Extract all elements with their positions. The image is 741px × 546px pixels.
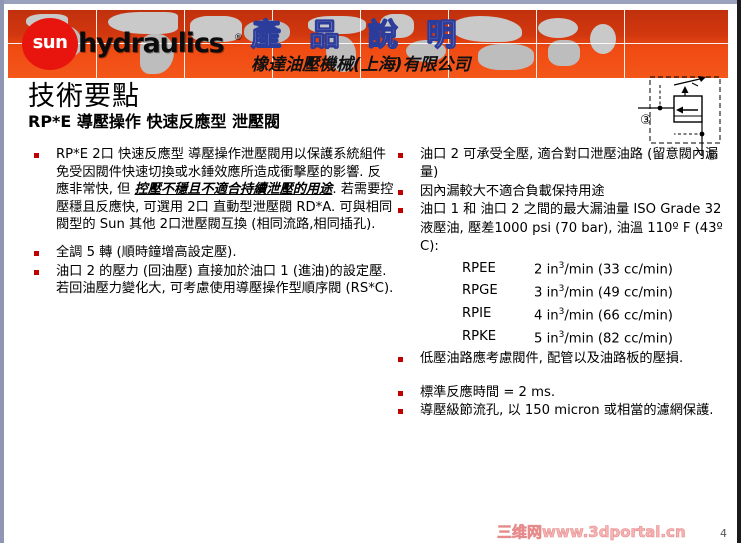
page-number: 4 <box>720 527 727 540</box>
table-row: RPEE 2 in3/min (33 cc/min) <box>462 257 673 280</box>
leak-per-unit: /min <box>564 286 593 301</box>
right-content-column: 油口 2 可承受全壓, 適合對口泄壓油路 (留意閥內漏量) 因內漏較大不適合負載… <box>388 146 736 421</box>
bullet-marker-icon <box>34 270 39 275</box>
slide-border-right <box>737 0 741 546</box>
leak-rate-1: 3 in3/min (49 cc/min) <box>534 280 673 303</box>
sun-hydraulics-logo: sun hydraulics ® <box>10 10 250 78</box>
leak-model: RPEE <box>462 257 534 280</box>
leak-metric-value: (82 cc/min) <box>598 331 673 346</box>
slide-canvas: sun hydraulics ® 產 品 說 明 橡達油壓機械(上海)有限公司 … <box>0 0 741 546</box>
table-row: RPGE 3 in3/min (49 cc/min) <box>462 280 673 303</box>
list-item: 油口 2 可承受全壓, 適合對口泄壓油路 (留意閥內漏量) <box>388 146 736 183</box>
leak-per-unit: /min <box>564 308 593 323</box>
leak-imperial-unit: in <box>547 286 559 301</box>
bullet-marker-icon <box>398 190 403 195</box>
bullet-text-1: RP*E 2口 快速反應型 導壓操作泄壓閥用以保護系統組件免受因閥件快速切換或水… <box>56 146 394 234</box>
leak-metric-value: (49 cc/min) <box>598 286 673 301</box>
right-bullet-text-1: 油口 2 可承受全壓, 適合對口泄壓油路 (留意閥內漏量) <box>420 146 736 183</box>
logo-hydraulics-text: hydraulics <box>78 30 224 57</box>
table-row: RPIE 4 in3/min (66 cc/min) <box>462 303 673 326</box>
schematic-port-2-label: ③ <box>640 113 652 128</box>
leak-imperial-unit: in <box>547 308 559 323</box>
leak-per-unit: /min <box>564 263 593 278</box>
internal-leakage-table: RPEE 2 in3/min (33 cc/min) RPGE 3 in3/mi… <box>462 257 673 348</box>
table-row: RPKE 5 in3/min (82 cc/min) <box>462 326 673 349</box>
leak-imperial-value: 4 <box>534 308 542 323</box>
bullet-text-3: 油口 2 的壓力 (回油壓) 直接加於油口 1 (進油)的設定壓. 若回油壓力變… <box>56 263 394 298</box>
leak-rate-3: 5 in3/min (82 cc/min) <box>534 326 673 349</box>
bullet-marker-icon <box>398 391 403 396</box>
bullet-marker-icon <box>34 153 39 158</box>
leak-per-unit: /min <box>564 331 593 346</box>
right-bullet-text-5: 標準反應時間 = 2 ms. <box>420 384 736 402</box>
leak-imperial-unit: in <box>547 331 559 346</box>
list-item: 油口 2 的壓力 (回油壓) 直接加於油口 1 (進油)的設定壓. 若回油壓力變… <box>24 263 394 298</box>
slide-border-left <box>0 0 4 546</box>
bullet-marker-icon <box>398 208 403 213</box>
bullet-marker-icon <box>398 357 403 362</box>
leak-imperial-value: 2 <box>534 263 542 278</box>
right-bullet-text-4: 低壓油路應考慮閥件, 配管以及油路板的壓損. <box>420 350 736 368</box>
page-title: 技術要點 <box>28 82 140 112</box>
bullet-1-emphasis: 控壓不穩且不適合持續泄壓的用途 <box>135 182 333 197</box>
bullet-marker-icon <box>34 251 39 256</box>
leak-metric-value: (66 cc/min) <box>598 308 673 323</box>
leak-model: RPIE <box>462 303 534 326</box>
page-subtitle: RP*E 導壓操作 快速反應型 泄壓閥 <box>28 112 280 131</box>
logo-sun-text: sun <box>24 34 76 52</box>
leak-metric-value: (33 cc/min) <box>598 263 673 278</box>
list-item: 全調 5 轉 (順時鐘增高設定壓). <box>24 244 394 262</box>
left-bullet-list: RP*E 2口 快速反應型 導壓操作泄壓閥用以保護系統組件免受因閥件快速切換或水… <box>24 146 394 298</box>
list-item: 導壓級節流孔, 以 150 micron 或相當的濾網保護. <box>388 402 736 420</box>
list-item: 因內漏較大不適合負載保持用途 <box>388 183 736 201</box>
leak-model: RPKE <box>462 326 534 349</box>
registered-trademark-icon: ® <box>235 32 242 42</box>
slide-border-top <box>0 0 741 4</box>
leak-rate-0: 2 in3/min (33 cc/min) <box>534 257 673 280</box>
leakage-table-body: RPEE 2 in3/min (33 cc/min) RPGE 3 in3/mi… <box>462 257 673 348</box>
leak-imperial-unit: in <box>547 263 559 278</box>
leak-imperial-value: 3 <box>534 286 542 301</box>
right-bullet-text-3: 油口 1 和 油口 2 之間的最大漏油量 ISO Grade 32 液壓油, 壓… <box>420 201 736 256</box>
list-item: RP*E 2口 快速反應型 導壓操作泄壓閥用以保護系統組件免受因閥件快速切換或水… <box>24 146 394 234</box>
right-bullet-text-6: 導壓級節流孔, 以 150 micron 或相當的濾網保護. <box>420 402 736 420</box>
leak-model: RPGE <box>462 280 534 303</box>
banner-company-name: 橡達油壓機械(上海)有限公司 <box>251 55 471 75</box>
bullet-marker-icon <box>398 153 403 158</box>
left-content-column: RP*E 2口 快速反應型 導壓操作泄壓閥用以保護系統組件免受因閥件快速切換或水… <box>24 146 394 308</box>
banner-chinese-title: 產 品 說 明 <box>251 20 465 52</box>
leak-imperial-value: 5 <box>534 331 542 346</box>
list-item: 油口 1 和 油口 2 之間的最大漏油量 ISO Grade 32 液壓油, 壓… <box>388 201 736 348</box>
header-banner: sun hydraulics ® 產 品 說 明 橡達油壓機械(上海)有限公司 <box>8 10 728 78</box>
site-watermark: 三维网www.3dportal.cn <box>497 521 686 542</box>
right-bullet-text-2: 因內漏較大不適合負載保持用途 <box>420 183 736 201</box>
bullet-marker-icon <box>398 409 403 414</box>
list-item: 低壓油路應考慮閥件, 配管以及油路板的壓損. <box>388 350 736 368</box>
leak-rate-2: 4 in3/min (66 cc/min) <box>534 303 673 326</box>
right-bullet-list: 油口 2 可承受全壓, 適合對口泄壓油路 (留意閥內漏量) 因內漏較大不適合負載… <box>388 146 736 421</box>
list-item: 標準反應時間 = 2 ms. <box>388 384 736 402</box>
bullet-text-2: 全調 5 轉 (順時鐘增高設定壓). <box>56 244 394 262</box>
